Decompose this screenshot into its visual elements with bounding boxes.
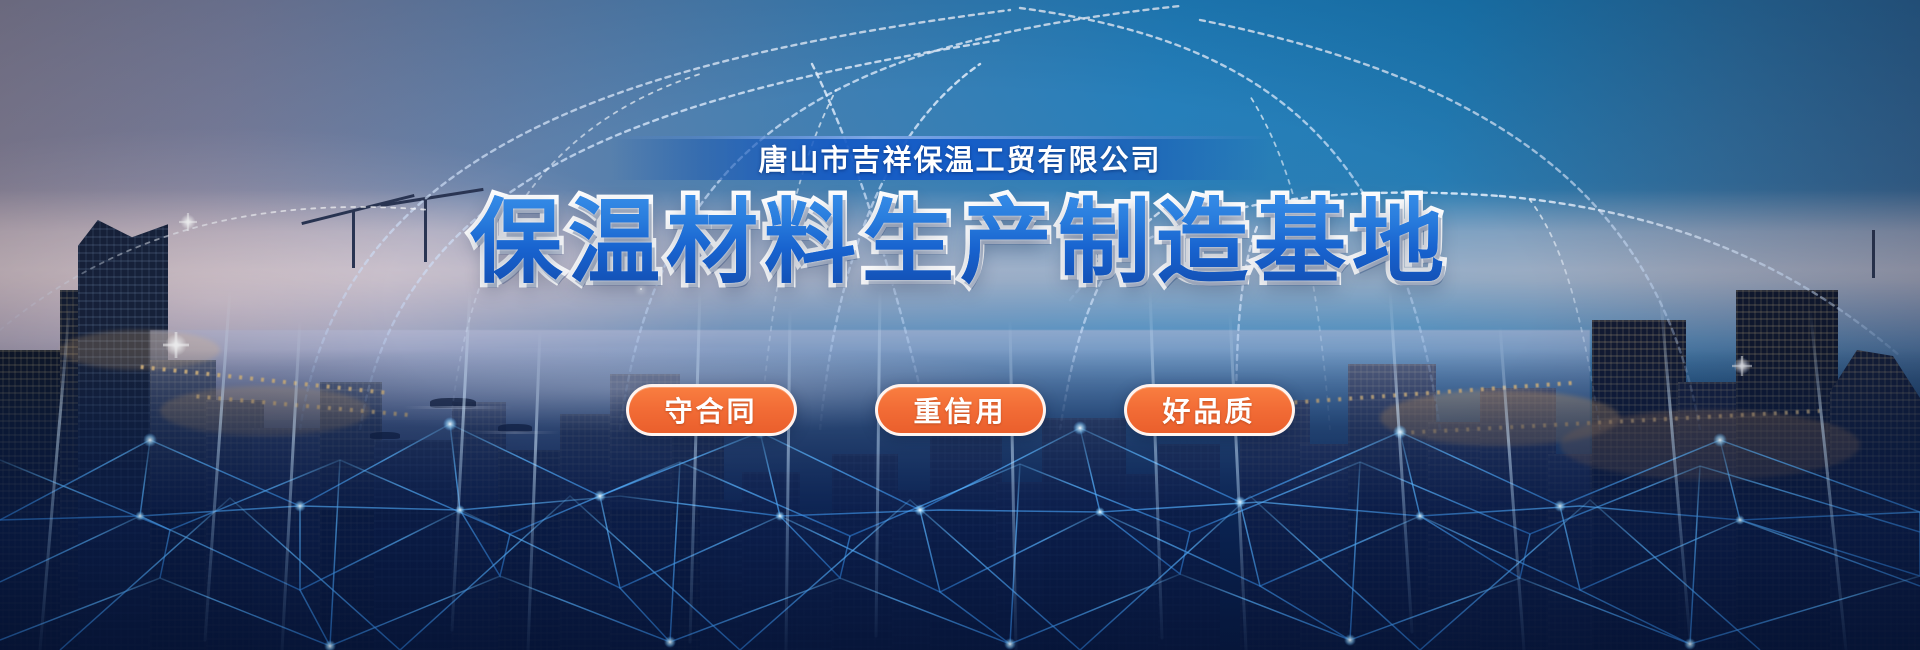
badge-hao-pin-zhi[interactable]: 好品质 (1124, 384, 1295, 436)
badge-list: 守合同 重信用 好品质 (0, 383, 1920, 437)
light-streaks (0, 290, 1920, 650)
headline-outline: 保温材料生产制造基地 (0, 182, 1920, 286)
hero-banner: 唐山市吉祥保温工贸有限公司 保温材料生产制造基地 保温材料生产制造基地 守合同 … (0, 0, 1920, 650)
badge-shou-he-tong[interactable]: 守合同 (626, 384, 797, 436)
badge-zhong-xin-yong[interactable]: 重信用 (875, 384, 1046, 436)
